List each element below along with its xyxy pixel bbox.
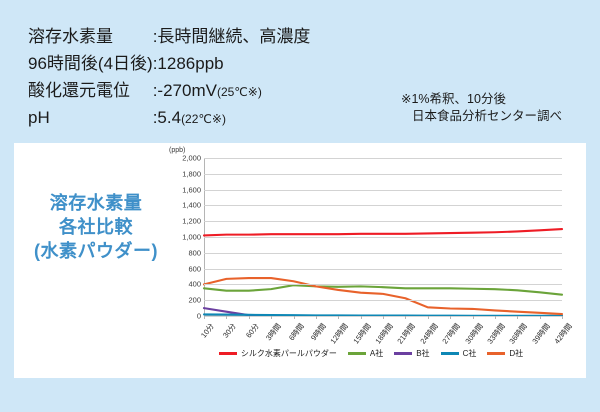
x-axis-tick-label: 42時間 [552, 321, 575, 346]
y-axis-tick-label: 1,600 [182, 185, 201, 194]
x-axis-tick-label: 21時間 [395, 321, 418, 346]
gridline [204, 237, 562, 238]
chart-caption-line-3: (水素パウダー) [22, 239, 170, 263]
legend-swatch [394, 352, 412, 355]
x-axis-tick-label: 10分 [198, 321, 216, 340]
legend-label: シルク水素パールパウダー [241, 348, 337, 359]
footnote-line-2: 日本食品分析センター調べ [401, 108, 562, 125]
spec-row: 酸化還元電位 : -270mV(25℃※) [28, 78, 310, 105]
legend-label: D社 [509, 348, 523, 359]
y-axis-tick-label: 1,400 [182, 201, 201, 210]
legend-item[interactable]: A社 [348, 348, 383, 359]
spec-label: 96時間後(4日後) [28, 51, 153, 78]
spec-value-text: 1286ppb [157, 54, 223, 73]
plot-area: (ppb) 02004006008001,0001,2001,4001,6001… [161, 147, 581, 375]
y-axis-tick-label: 200 [188, 296, 201, 305]
x-axis-tick-label: 9時間 [308, 321, 328, 343]
spec-value: 5.4(22℃※) [157, 105, 310, 132]
x-axis-tick-label: 27時間 [440, 321, 463, 346]
spec-value: 長時間継続、高濃度 [157, 24, 310, 51]
spec-value-text: 長時間継続、高濃度 [157, 27, 310, 46]
spec-value: -270mV(25℃※) [157, 78, 310, 105]
gridline [204, 205, 562, 206]
y-axis-tick-labels: 02004006008001,0001,2001,4001,6001,8002,… [161, 158, 201, 316]
legend-item[interactable]: シルク水素パールパウダー [219, 348, 337, 359]
spec-row: 溶存水素量 : 長時間継続、高濃度 [28, 24, 310, 51]
spec-label: 酸化還元電位 [28, 78, 153, 105]
spec-value-sub: (22℃※) [181, 112, 226, 126]
spec-row: pH : 5.4(22℃※) [28, 105, 310, 132]
x-axis-tick-label: 6時間 [286, 321, 306, 343]
spec-value: 1286ppb [157, 51, 310, 78]
spec-label-text: pH [28, 105, 146, 130]
footnote-line-1: ※1%希釈、10分後 [401, 92, 506, 106]
legend-swatch [219, 352, 237, 355]
gridline [204, 284, 562, 285]
legend-label: C社 [463, 348, 477, 359]
x-axis-tick-label: 39時間 [529, 321, 552, 346]
gridline [204, 253, 562, 254]
spec-label-text: 96時間後(4日後) [28, 51, 153, 76]
legend-swatch [348, 352, 366, 355]
legend-swatch [487, 352, 505, 355]
legend-label: B社 [416, 348, 429, 359]
x-axis-tick-label: 36時間 [507, 321, 530, 346]
y-axis-tick-label: 800 [188, 248, 201, 257]
footnote: ※1%希釈、10分後 日本食品分析センター調べ [401, 91, 562, 125]
y-axis-tick-label: 1,800 [182, 169, 201, 178]
x-axis-tick-label: 33時間 [485, 321, 508, 346]
x-axis-tick-label: 18時間 [373, 321, 396, 346]
x-axis-tick-label: 30時間 [462, 321, 485, 346]
x-axis-tick-label: 12時間 [328, 321, 351, 346]
header-spec-block: 溶存水素量 : 長時間継続、高濃度 96時間後(4日後) : 1286ppb 酸… [0, 0, 600, 140]
y-axis-tick-label: 600 [188, 264, 201, 273]
x-axis-tick [562, 316, 563, 319]
gridline [204, 300, 562, 301]
chart-caption-line-2: 各社比較 [22, 215, 170, 239]
gridline [204, 190, 562, 191]
legend-swatch [441, 352, 459, 355]
spec-value-sub: (25℃※) [217, 85, 262, 99]
spec-value-text: -270mV [157, 81, 217, 100]
legend-label: A社 [370, 348, 383, 359]
spec-label-text: 酸化還元電位 [28, 78, 146, 103]
y-axis-tick-label: 0 [197, 312, 201, 321]
chart-caption: 溶存水素量 各社比較 (水素パウダー) [22, 191, 170, 263]
x-axis-tick-label: 30分 [221, 321, 239, 340]
x-axis-tick-label: 3時間 [263, 321, 283, 343]
y-axis-tick-label: 400 [188, 280, 201, 289]
y-axis-tick-label: 2,000 [182, 154, 201, 163]
gridline [204, 158, 562, 159]
x-axis-tick-label: 15時間 [350, 321, 373, 346]
chart-card: 溶存水素量 各社比較 (水素パウダー) (ppb) 02004006008001… [14, 143, 586, 378]
x-axis-tick-label: 60分 [243, 321, 261, 340]
gridline [204, 174, 562, 175]
chart-legend: シルク水素パールパウダーA社B社C社D社 [161, 348, 581, 359]
series-line [204, 229, 562, 235]
plot-canvas [204, 158, 562, 316]
spec-label-text: 溶存水素量 [28, 24, 146, 49]
legend-item[interactable]: D社 [487, 348, 523, 359]
legend-item[interactable]: C社 [441, 348, 477, 359]
gridline [204, 269, 562, 270]
y-axis-tick-label: 1,000 [182, 233, 201, 242]
spec-label: pH [28, 105, 153, 132]
legend-item[interactable]: B社 [394, 348, 429, 359]
gridline [204, 221, 562, 222]
spec-row: 96時間後(4日後) : 1286ppb [28, 51, 310, 78]
spec-label: 溶存水素量 [28, 24, 153, 51]
chart-caption-line-1: 溶存水素量 [22, 191, 170, 215]
x-axis-tick-label: 24時間 [417, 321, 440, 346]
spec-value-text: 5.4 [157, 108, 181, 127]
spec-table: 溶存水素量 : 長時間継続、高濃度 96時間後(4日後) : 1286ppb 酸… [28, 24, 310, 132]
y-axis-tick-label: 1,200 [182, 217, 201, 226]
